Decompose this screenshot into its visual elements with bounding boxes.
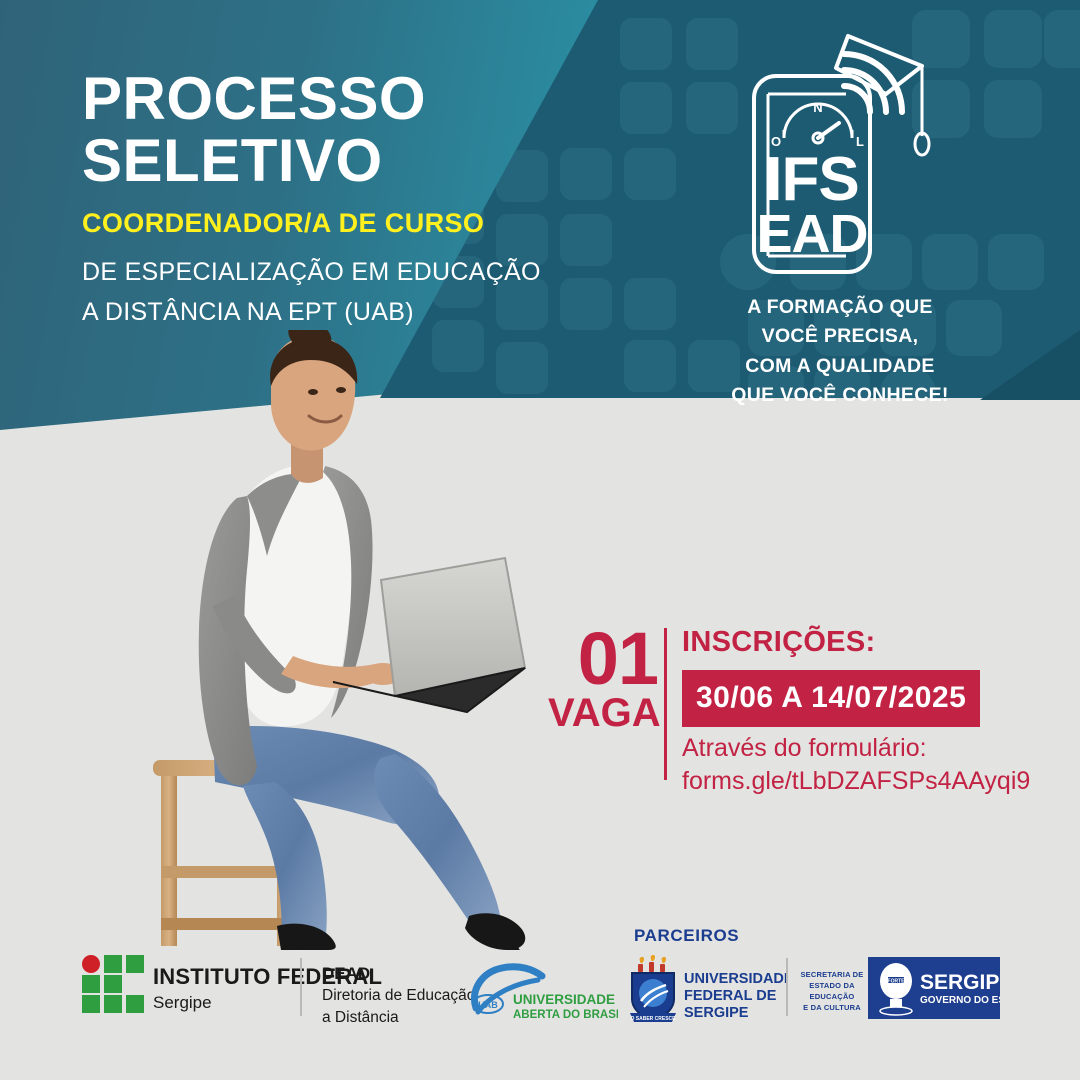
photo-woman-with-laptop bbox=[95, 330, 565, 950]
dead-line-2: a Distância bbox=[322, 1008, 475, 1028]
ifsead-logo-line-2: EAD bbox=[756, 204, 867, 264]
uab-line-2: ABERTA DO BRASIL bbox=[513, 1009, 618, 1021]
ifsead-logo: O N L IFS EAD bbox=[740, 28, 940, 293]
tagline-line-1: A FORMAÇÃO QUE bbox=[690, 293, 990, 322]
shoe-back bbox=[277, 924, 336, 950]
ufs-line-3: SERGIPE bbox=[684, 1005, 749, 1021]
sergipe-title: SERGIPE bbox=[920, 971, 1000, 994]
dead-acronym: DEAD bbox=[322, 964, 475, 984]
ufs-line-1: UNIVERSIDADE bbox=[684, 971, 786, 987]
registration-note: Através do formulário: forms.gle/tLbDZAF… bbox=[682, 732, 1030, 798]
registration-form-link[interactable]: forms.gle/tLbDZAFSPs4AAyqi9 bbox=[682, 765, 1030, 798]
sergipe-subtitle: GOVERNO DO ESTADO bbox=[920, 995, 1000, 1006]
registration-title: INSCRIÇÕES: bbox=[682, 626, 875, 659]
partners-label: PARCEIROS bbox=[634, 926, 739, 946]
sergipe-balloon-label: FORTE bbox=[888, 979, 906, 985]
uab-logo: UAB UNIVERSIDADE ABERTA DO BRASIL bbox=[468, 962, 618, 1024]
poster-canvas: PROCESSO SELETIVO COORDENADOR/A DE CURSO… bbox=[0, 0, 1080, 1080]
seduc-wordmark: SECRETARIA DE ESTADO DA EDUCAÇÃO E DA CU… bbox=[796, 970, 868, 1014]
vacancy-block: 01 VAGA bbox=[548, 625, 658, 733]
page-title: PROCESSO SELETIVO bbox=[82, 68, 426, 193]
instituto-federal-logo-icon bbox=[82, 955, 144, 1013]
seduc-line-2: ESTADO DA EDUCAÇÃO bbox=[796, 981, 868, 1003]
dead-block: DEAD Diretoria de Educação a Distância bbox=[322, 964, 475, 1028]
tagline-line-3: COM A QUALIDADE bbox=[690, 352, 990, 381]
ufs-motto: O SABER CRESCE bbox=[630, 1016, 676, 1022]
subtitle-course: DE ESPECIALIZAÇÃO EM EDUCAÇÃO A DISTÂNCI… bbox=[82, 252, 541, 332]
subtitle-course-line-2: A DISTÂNCIA NA EPT (UAB) bbox=[82, 292, 541, 332]
registration-dates-badge: 30/06 A 14/07/2025 bbox=[682, 670, 980, 727]
seduc-line-1: SECRETARIA DE bbox=[796, 970, 868, 981]
brand-tagline: A FORMAÇÃO QUE VOCÊ PRECISA, COM A QUALI… bbox=[690, 293, 990, 410]
uab-acronym: UAB bbox=[478, 1000, 498, 1010]
shoe-front bbox=[465, 913, 533, 950]
tagline-line-2: VOCÊ PRECISA, bbox=[690, 322, 990, 351]
subtitle-role: COORDENADOR/A DE CURSO bbox=[82, 208, 484, 239]
ufs-logo: O SABER CRESCE UNIVERSIDADE FEDERAL DE S… bbox=[626, 955, 786, 1027]
vacancy-label: VAGA bbox=[548, 693, 658, 733]
tagline-line-4: QUE VOCÊ CONHECE! bbox=[690, 381, 990, 410]
dead-line-1: Diretoria de Educação bbox=[322, 986, 475, 1006]
headline-line-2: SELETIVO bbox=[82, 130, 426, 192]
headline-line-1: PROCESSO bbox=[82, 68, 426, 130]
vertical-divider bbox=[664, 628, 667, 780]
gauge-label-top: N bbox=[813, 100, 822, 115]
seduc-line-3: E DA CULTURA bbox=[796, 1003, 868, 1014]
subtitle-course-line-1: DE ESPECIALIZAÇÃO EM EDUCAÇÃO bbox=[82, 252, 541, 292]
footer-divider-1 bbox=[300, 958, 302, 1016]
sergipe-government-logo: FORTE SERGIPE GOVERNO DO ESTADO bbox=[868, 957, 1000, 1019]
registration-note-line-1: Através do formulário: bbox=[682, 732, 1030, 765]
vacancy-count: 01 bbox=[548, 625, 658, 693]
uab-line-1: UNIVERSIDADE bbox=[513, 992, 615, 1007]
ufs-line-2: FEDERAL DE bbox=[684, 988, 777, 1004]
footer-divider-2 bbox=[786, 958, 788, 1016]
jeans-shin-front bbox=[374, 754, 501, 938]
